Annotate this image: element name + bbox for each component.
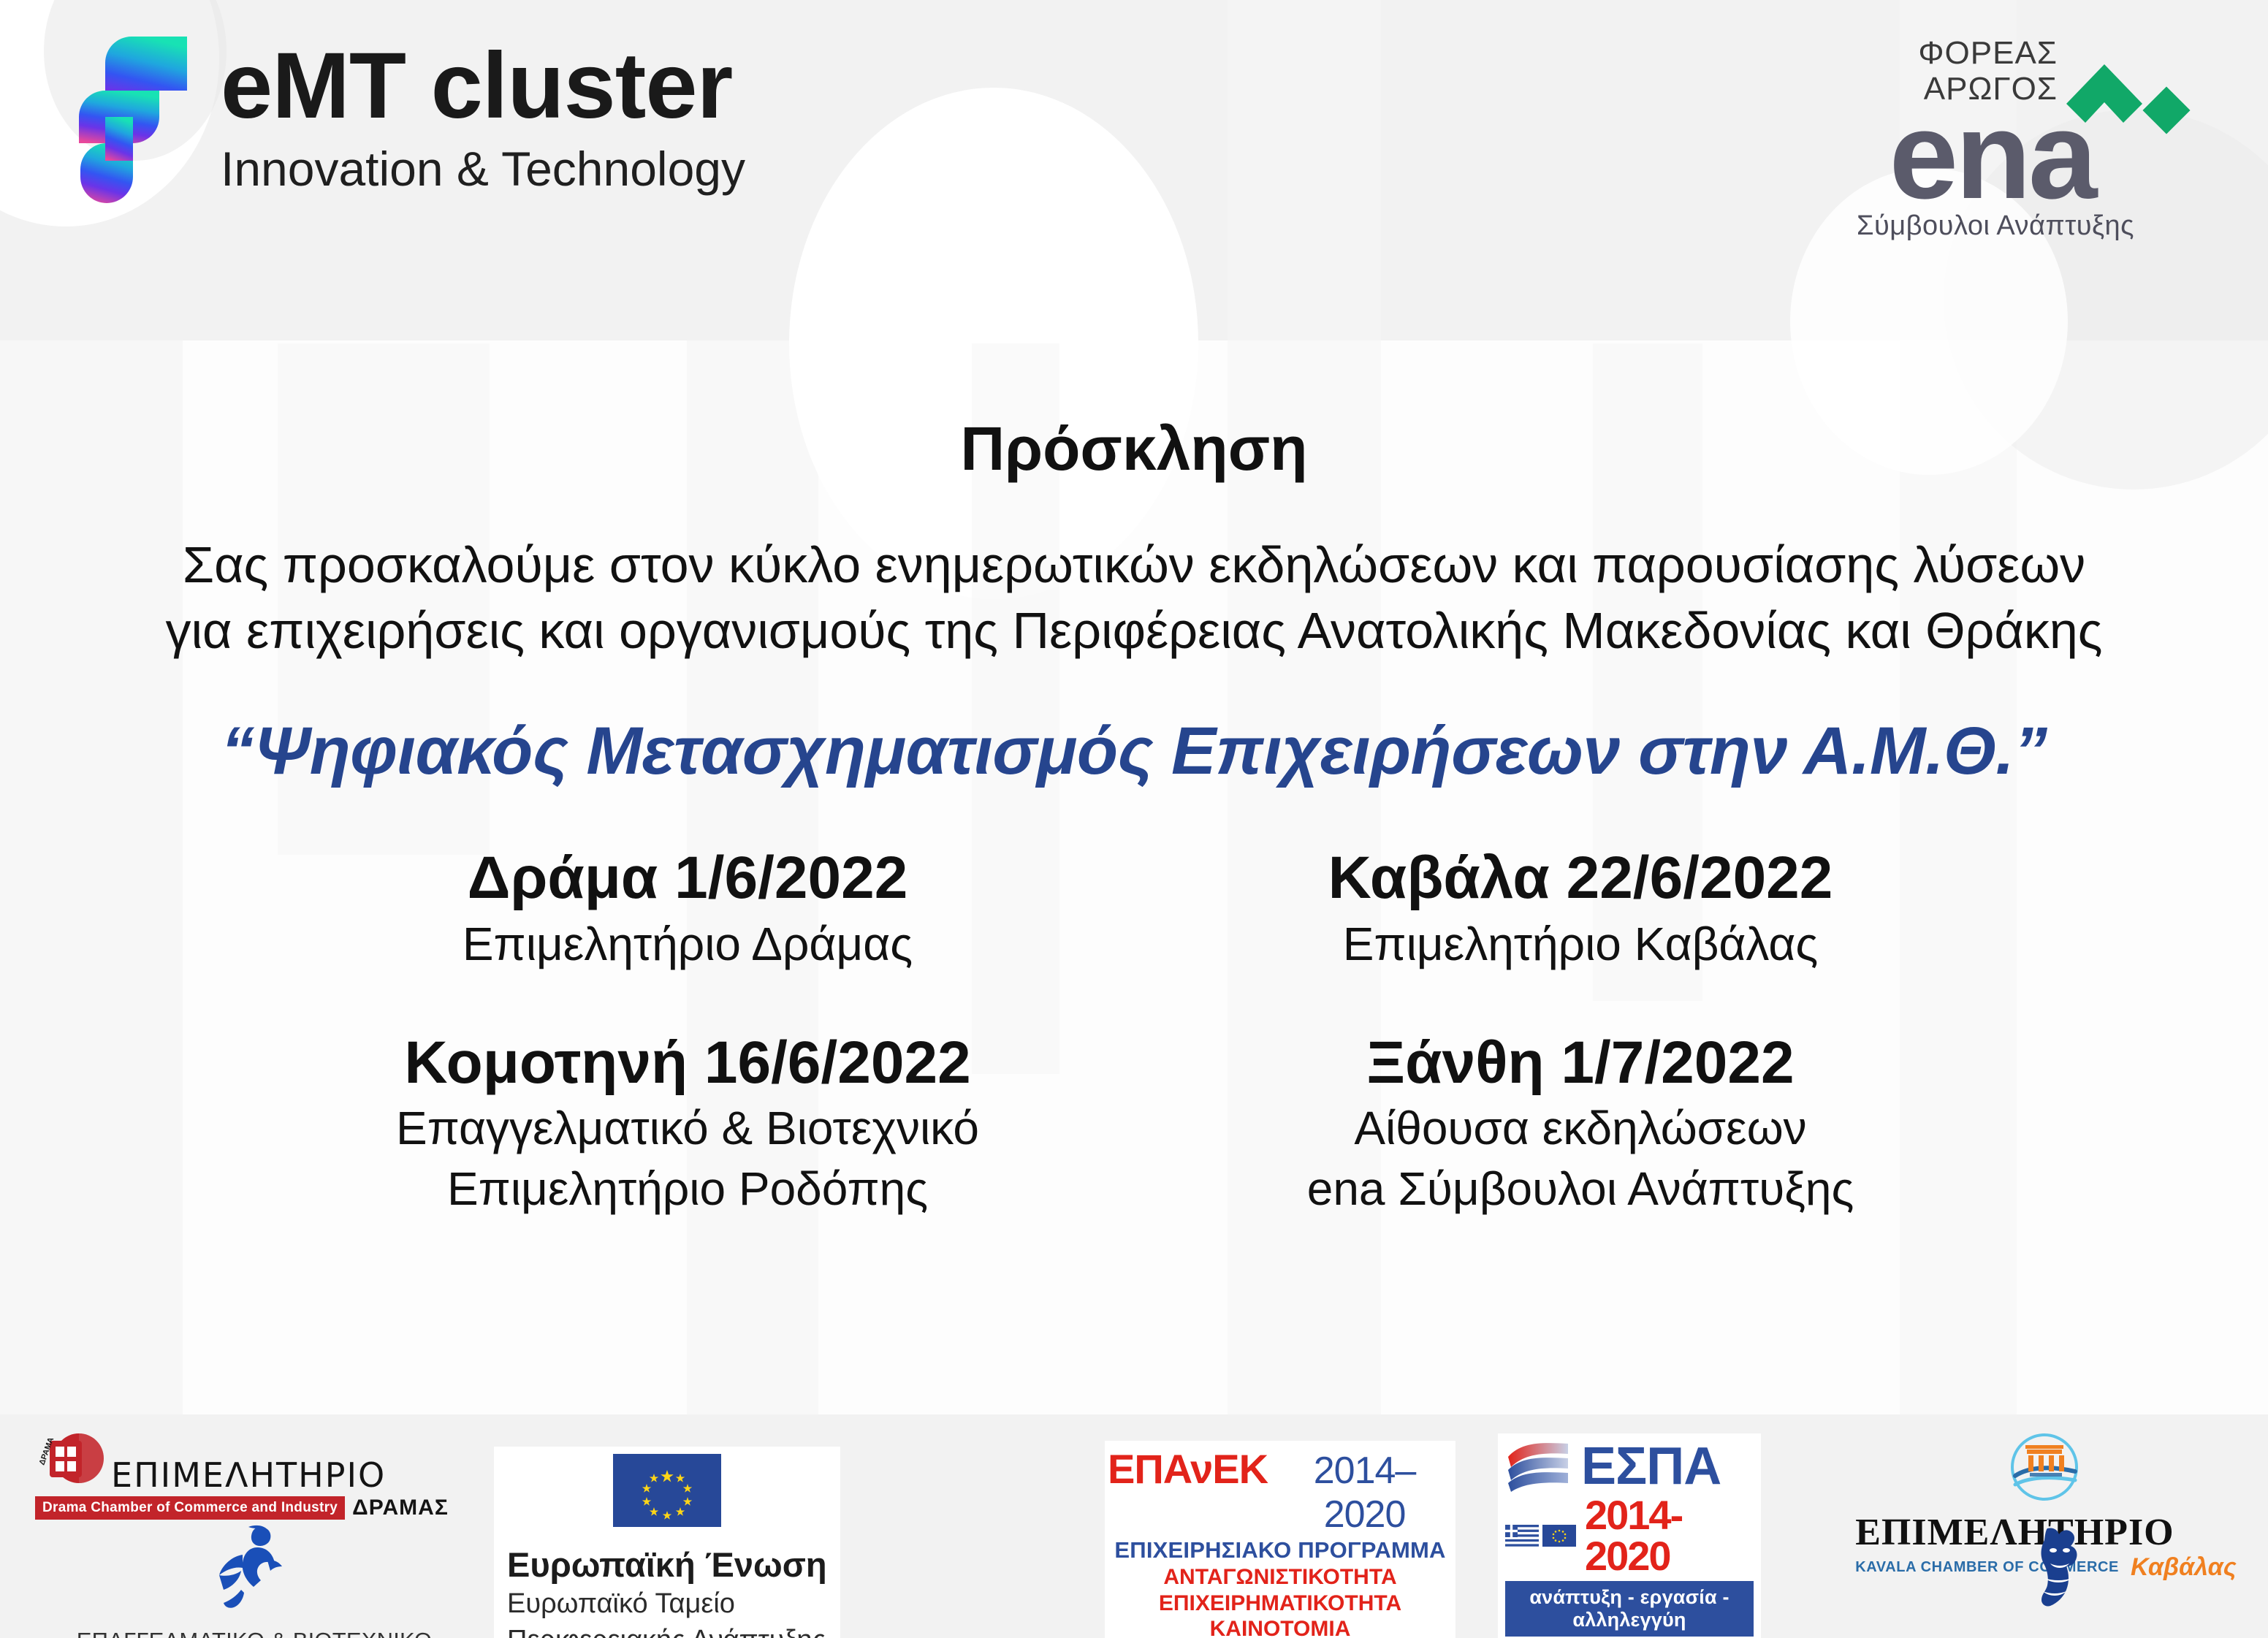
epanek-pillar-2: ΕΠΙΧΕΙΡΗΜΑΤΙΚΟΤΗΤΑ <box>1108 1591 1453 1616</box>
drama-chamber-logo: ΔΡΑΜΑ ΕΠΙΜΕΛΗΤΗΡΙΟ Drama Chamber of Comm… <box>35 1429 459 1520</box>
emt-cluster-brand: eMT cluster Innovation & Technology <box>63 35 745 203</box>
ena-logo-block: ΦΟΡΕΑΣ ΑΡΩΓΟΣ ena Σύμβουλοι Ανάπτυξης <box>1838 29 2204 234</box>
epanek-pillar-1: ΑΝΤΑΓΩΝΙΣΤΙΚΟΤΗΤΑ <box>1108 1565 1453 1590</box>
xanthi-chamber-figure-icon <box>2025 1525 2096 1613</box>
emt-cluster-mark-icon <box>63 35 187 203</box>
invitation-poster: eMT cluster Innovation & Technology ΦΟΡΕ… <box>0 0 2268 1638</box>
event-heading: Κομοτηνή 16/6/2022 <box>241 1029 1134 1097</box>
event-heading: Ξάνθη 1/7/2022 <box>1134 1029 2027 1097</box>
invitation-paragraph: Σας προσκαλούμε στον κύκλο ενημερωτικών … <box>0 533 2268 663</box>
european-union-flag-icon <box>1542 1525 1576 1547</box>
rodopi-chamber-logo: ΕΠΑΓΓΕΛΜΑΤΙΚΟ & ΒΙΟΤΕΧΝΙΚΟ ΕΠΙΜΕΛΗΤΗΡΙΟ … <box>35 1523 473 1638</box>
epanek-acronym: ΕΠΑνΕΚ <box>1108 1445 1268 1493</box>
greek-flag-icon <box>1505 1525 1539 1547</box>
espa-years: 2014-2020 <box>1585 1495 1754 1577</box>
eu-fund-line-2: Περιφερειακής Ανάπτυξης <box>507 1623 827 1638</box>
event-venue-line-1: Επαγγελματικό & Βιοτεχνικό <box>241 1100 1134 1157</box>
espa-waves-icon <box>1505 1439 1571 1493</box>
eu-title: Ευρωπαϊκή Ένωση <box>507 1546 827 1584</box>
ena-tagline: Σύμβουλοι Ανάπτυξης <box>1838 210 2153 242</box>
espa-slogan: ανάπτυξη - εργασία - αλληλεγγύη <box>1505 1581 1754 1637</box>
event-heading: Καβάλα 22/6/2022 <box>1134 845 2027 912</box>
event-venue-line-2: ena Σύμβουλοι Ανάπτυξης <box>1134 1161 2027 1217</box>
kavala-chamber-seal-icon <box>2005 1431 2087 1506</box>
event-venue: Επιμελητήριο Δράμας <box>241 916 1134 972</box>
invitation-line-1: Σας προσκαλούμε στον κύκλο ενημερωτικών … <box>0 533 2268 598</box>
event-venue: Επιμελητήριο Καβάλας <box>1134 916 2027 972</box>
brand-subtitle: Innovation & Technology <box>221 139 745 199</box>
event-heading: Δράμα 1/6/2022 <box>241 845 1134 912</box>
event-venue-line-2: Επιμελητήριο Ροδόπης <box>241 1161 1134 1217</box>
brand-title: eMT cluster <box>221 39 745 134</box>
event-venue-line-1: Αίθουσα εκδηλώσεων <box>1134 1100 2027 1157</box>
event-item: Δράμα 1/6/2022 Επιμελητήριο Δράμας <box>241 845 1134 972</box>
ena-support-line1: ΦΟΡΕΑΣ <box>1838 35 2058 71</box>
poster-header: eMT cluster Innovation & Technology ΦΟΡΕ… <box>0 0 2268 340</box>
xanthi-chamber-line-1: ΕΠΙΜΕΛΗΤΗΡΙΟ <box>1924 1631 2198 1638</box>
espa-word: ΕΣΠΑ <box>1581 1441 1721 1491</box>
ena-wordmark: ena <box>1838 94 2145 218</box>
rodopi-chamber-line-1: ΕΠΑΓΓΕΛΜΑΤΙΚΟ & ΒΙΟΤΕΧΝΙΚΟ <box>77 1626 433 1638</box>
drama-chamber-english-name: Drama Chamber of Commerce and Industry <box>35 1496 345 1520</box>
event-item: Καβάλα 22/6/2022 Επιμελητήριο Καβάλας <box>1134 845 2027 972</box>
european-union-flag-icon <box>613 1454 721 1527</box>
event-item: Κομοτηνή 16/6/2022 Επαγγελματικό & Βιοτε… <box>241 1029 1134 1217</box>
drama-chamber-name: ΕΠΙΜΕΛΗΤΗΡΙΟ <box>111 1458 386 1492</box>
epanek-years: 2014–2020 <box>1276 1449 1453 1536</box>
espa-logo: ΕΣΠΑ <box>1498 1433 1761 1638</box>
xanthi-chamber-logo: ΕΠΙΜΕΛΗΤΗΡΙΟ ΞΑΝΘΗΣ <box>1856 1525 2265 1638</box>
european-union-logo: Ευρωπαϊκή Ένωση Ευρωπαϊκό Ταμείο Περιφερ… <box>494 1447 840 1638</box>
eu-fund-line-1: Ευρωπαϊκό Ταμείο <box>507 1587 827 1620</box>
poster-body: Πρόσκληση Σας προσκαλούμε στον κύκλο ενη… <box>0 340 2268 1414</box>
drama-chamber-city: ΔΡΑΜΑΣ <box>352 1496 449 1520</box>
invitation-heading: Πρόσκληση <box>0 414 2268 484</box>
events-grid: Δράμα 1/6/2022 Επιμελητήριο Δράμας Καβάλ… <box>0 845 2268 1217</box>
epanek-logo: ΕΠΑνΕΚ 2014–2020 ΕΠΙΧΕΙΡΗΣΙΑΚΟ ΠΡΟΓΡΑΜΜΑ… <box>1105 1441 1455 1638</box>
epanek-programme: ΕΠΙΧΕΙΡΗΣΙΑΚΟ ΠΡΟΓΡΑΜΜΑ <box>1108 1537 1453 1563</box>
invitation-line-2: για επιχειρήσεις και οργανισμούς της Περ… <box>0 598 2268 664</box>
poster-footer: ΔΡΑΜΑ ΕΠΙΜΕΛΗΤΗΡΙΟ Drama Chamber of Comm… <box>0 1414 2268 1638</box>
event-item: Ξάνθη 1/7/2022 Αίθουσα εκδηλώσεων ena Σύ… <box>1134 1029 2027 1217</box>
epanek-pillar-3: ΚΑΙΝΟΤΟΜΙΑ <box>1108 1617 1453 1638</box>
event-series-title: “Ψηφιακός Μετασχηματισμός Επιχειρήσεων σ… <box>0 713 2268 790</box>
drama-chamber-seal-icon: ΔΡΑΜΑ <box>35 1429 105 1492</box>
rodopi-hermes-figure-icon <box>215 1523 294 1610</box>
